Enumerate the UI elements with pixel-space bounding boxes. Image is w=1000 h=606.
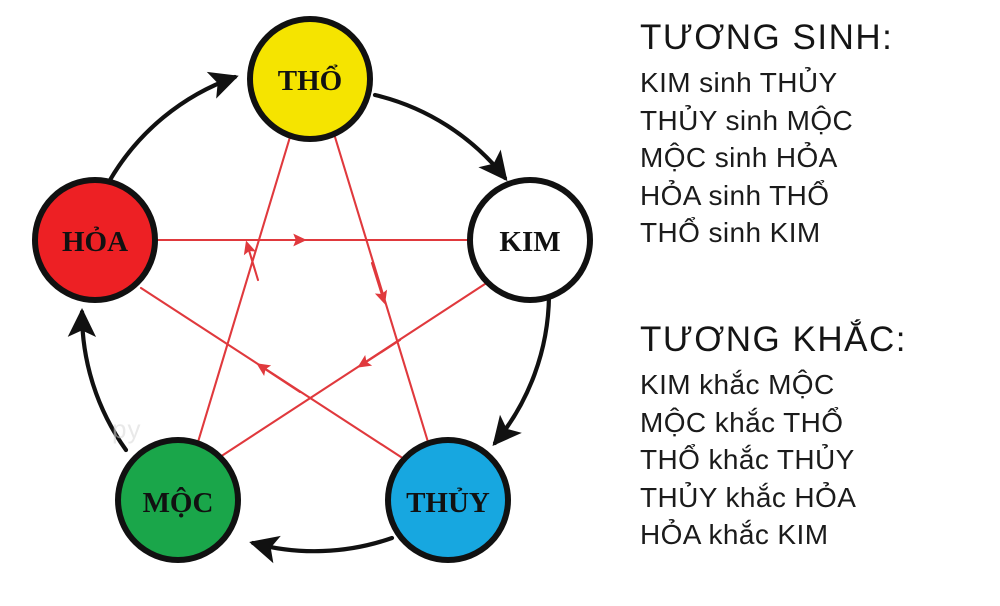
tuong-khac-list: KIM khắc MỘC MỘC khắc THỔ THỔ khắc THỦY … <box>640 366 1000 554</box>
element-node-tho[interactable]: THỔ <box>250 19 370 139</box>
element-node-hoa[interactable]: HỎA <box>35 180 155 300</box>
list-item: THỔ sinh KIM <box>640 214 1000 252</box>
node-label-hoa: HỎA <box>62 225 128 258</box>
tuong-khac-block: TƯƠNG KHẮC: KIM khắc MỘC MỘC khắc THỔ TH… <box>640 320 1000 554</box>
five-elements-infographic: THỔ KIM THỦY MỘC HỎA py TƯƠNG SIN <box>0 0 1000 606</box>
inner-arrowhead-tho-to-thuy <box>372 263 383 298</box>
list-item: THỦY sinh MỘC <box>640 102 1000 140</box>
inner-cycle-arrows <box>141 137 488 459</box>
tuong-sinh-list: KIM sinh THỦY THỦY sinh MỘC MỘC sinh HỎA… <box>640 64 1000 252</box>
list-item: THỔ khắc THỦY <box>640 441 1000 479</box>
diagram-canvas: THỔ KIM THỦY MỘC HỎA <box>0 0 620 606</box>
tuong-sinh-title: TƯƠNG SINH: <box>640 18 1000 57</box>
outer-arrow-tho-to-kim <box>375 95 505 178</box>
node-label-kim: KIM <box>499 226 560 258</box>
outer-arrow-thuy-to-moc <box>253 538 392 551</box>
inner-arrowhead-thuy-to-hoa <box>262 367 300 392</box>
list-item: HỎA khắc KIM <box>640 516 1000 554</box>
node-label-tho: THỔ <box>278 63 342 97</box>
element-node-moc[interactable]: MỘC <box>118 440 238 560</box>
ngu-hanh-diagram: THỔ KIM THỦY MỘC HỎA py <box>0 0 620 606</box>
tuong-khac-title: TƯƠNG KHẮC: <box>640 320 1000 359</box>
list-item: KIM khắc MỘC <box>640 366 1000 404</box>
list-item: MỘC khắc THỔ <box>640 404 1000 442</box>
element-node-kim[interactable]: KIM <box>470 180 590 300</box>
inner-arrow-kim-to-moc <box>220 282 488 457</box>
node-label-moc: MỘC <box>143 486 214 519</box>
list-item: MỘC sinh HỎA <box>640 139 1000 177</box>
tuong-sinh-block: TƯƠNG SINH: KIM sinh THỦY THỦY sinh MỘC … <box>640 18 1000 252</box>
outer-arrow-kim-to-thuy <box>495 296 549 443</box>
inner-arrowhead-moc-to-tho <box>248 247 258 280</box>
rules-panel: TƯƠNG SINH: KIM sinh THỦY THỦY sinh MỘC … <box>640 0 1000 606</box>
list-item: THỦY khắc HỎA <box>640 479 1000 517</box>
list-item: HỎA sinh THỔ <box>640 177 1000 215</box>
inner-arrowhead-kim-to-moc <box>363 340 400 364</box>
inner-arrow-moc-to-tho <box>198 137 290 442</box>
outer-arrow-moc-to-hoa <box>82 312 126 450</box>
list-item: KIM sinh THỦY <box>640 64 1000 102</box>
outer-arrow-hoa-to-tho <box>110 77 235 180</box>
element-node-thuy[interactable]: THỦY <box>388 440 508 560</box>
node-label-thuy: THỦY <box>406 486 490 519</box>
inner-arrow-tho-to-thuy <box>335 137 428 442</box>
